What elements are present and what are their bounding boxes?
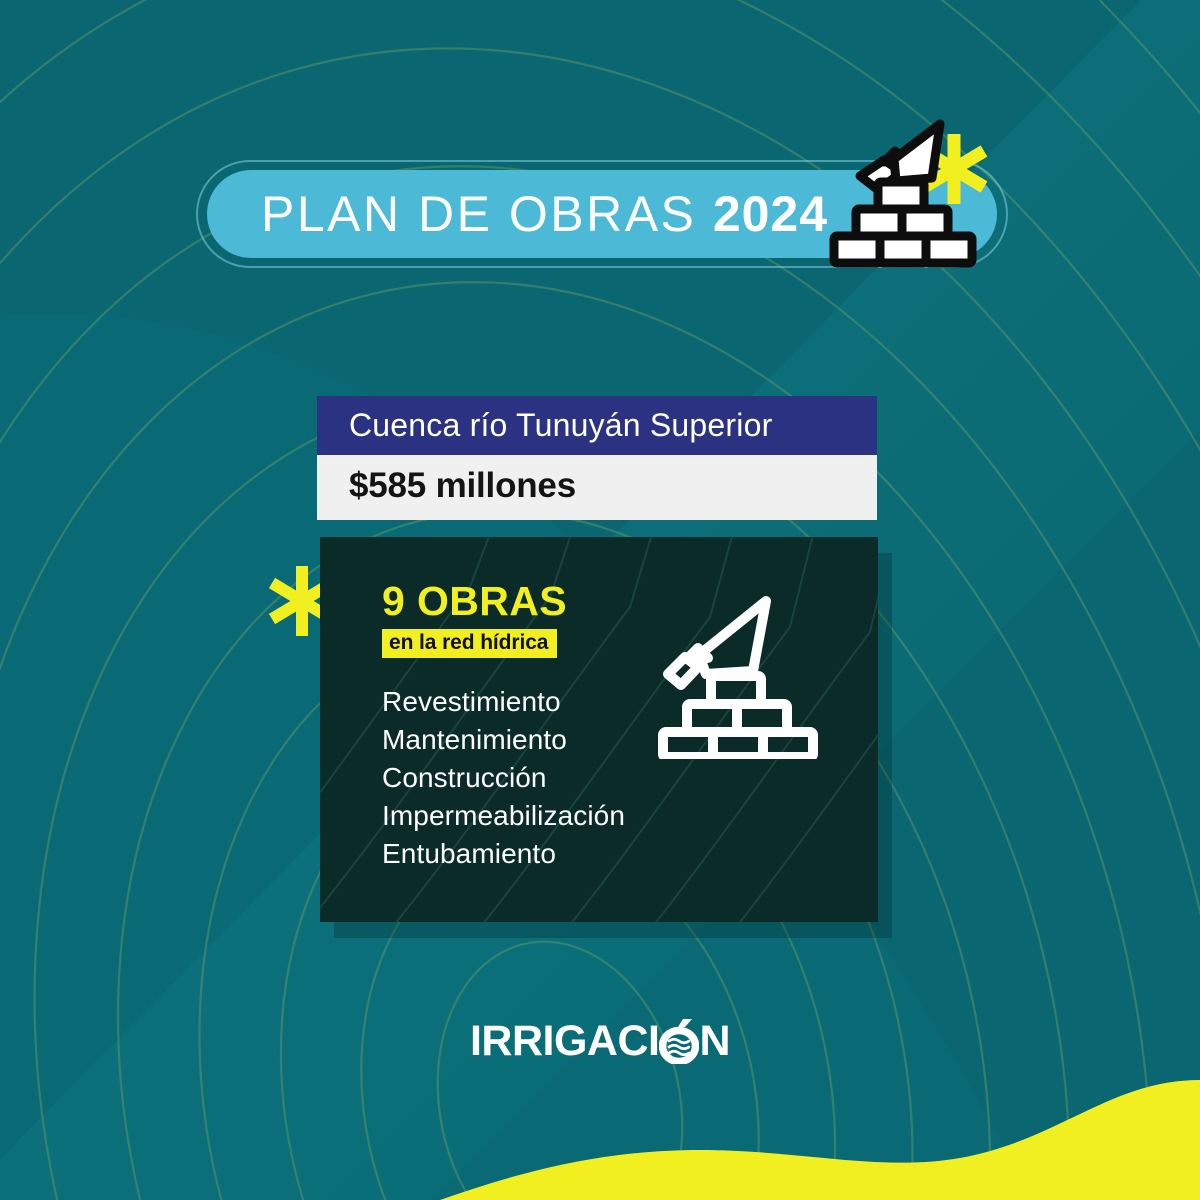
trowel-bricks-icon	[796, 118, 1006, 268]
logo-text-last: N	[699, 1020, 730, 1063]
list-item: Impermeabilización	[382, 797, 878, 835]
logo-text-first: IRRIGACI	[470, 1020, 660, 1063]
yellow-wave-shape-icon	[440, 1080, 1200, 1200]
page-title: PLAN DE OBRAS 2024	[261, 189, 828, 239]
basin-amount: $585 millones	[317, 455, 877, 520]
header-banner: PLAN DE OBRAS 2024	[196, 160, 1008, 268]
basin-name: Cuenca río Tunuyán Superior	[317, 396, 877, 455]
works-subtitle: en la red hídrica	[382, 629, 557, 658]
basin-info-block: Cuenca río Tunuyán Superior $585 millone…	[317, 396, 877, 520]
works-card: 9 OBRAS en la red hídrica Revestimiento …	[320, 537, 878, 922]
infographic-poster: PLAN DE OBRAS 2024	[0, 0, 1200, 1200]
footer: IRRIGACI N	[0, 1018, 1200, 1064]
water-waves-icon	[659, 1018, 699, 1064]
page-title-main: PLAN DE OBRAS	[261, 186, 696, 242]
trowel-bricks-icon	[654, 579, 824, 759]
list-item: Construcción	[382, 759, 878, 797]
list-item: Entubamiento	[382, 835, 878, 873]
irrigacion-logo: IRRIGACI N	[470, 1018, 730, 1064]
